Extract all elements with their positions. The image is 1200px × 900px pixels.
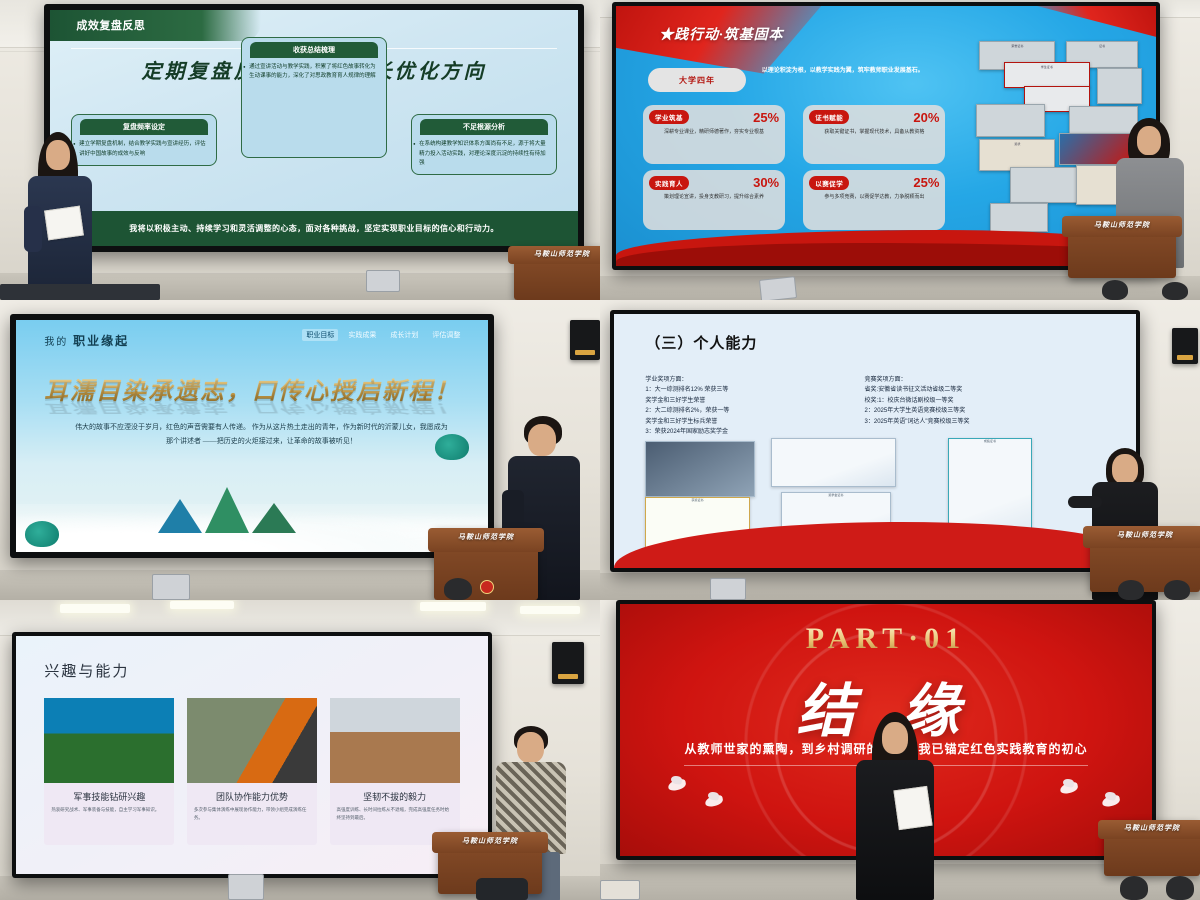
interest-card-heading: 坚韧不拔的毅力 (330, 783, 460, 806)
slide-interests-abilities: 兴趣与能力 军事技能钻研兴趣 热衷研究战术、军事装备与技能，自主学习军事知识。 … (16, 636, 488, 874)
panel-middle-left: 我的 职业缘起 职业目标 实践成果 成长计划 评估调整 耳濡目染承遗志，口传心授… (0, 300, 600, 600)
panel-top-left: 成效复盘反思 定期复盘反思，我在成长优化方向 复盘频率设定 建立学期复盘机制，结… (0, 0, 600, 300)
review-card-body: 在系统构建教学知识体系方面尚有不足，源于将大量精力投入活动实践，对理论深度沉淀的… (412, 140, 556, 168)
microphone (444, 578, 472, 600)
review-card-body: 通过宣讲活动与教学实践，积累了将红色故事转化为生动课事的能力，深化了对思政教育育… (242, 63, 386, 82)
slide-title: （三）个人能力 (645, 332, 757, 353)
tab-career-goal[interactable]: 职业目标 (302, 329, 338, 341)
podium-institution-name: 马鞍山师范学院 (514, 249, 600, 259)
interest-card-heading: 军事技能钻研兴趣 (44, 783, 174, 806)
laptop (366, 270, 400, 292)
certificate-thumb (990, 203, 1049, 231)
metric-tag: 实践育人 (649, 176, 689, 190)
podium-institution-name: 马鞍山师范学院 (1090, 530, 1200, 540)
metric-tag: 以赛促学 (809, 176, 849, 190)
metric-tag: 学业筑基 (649, 110, 689, 124)
tab-evaluation-adjust[interactable]: 评估调整 (428, 329, 464, 341)
certificate-thumb (1097, 68, 1142, 105)
interest-card-desc: 热衷研究战术、军事装备与技能，自主学习军事知识。 (44, 806, 174, 814)
metric-card: 证书赋能 20% 获取关键证书，掌握现代技术，具备从教资格 (803, 105, 945, 164)
microphone (1118, 580, 1144, 600)
podium: 马鞍山师范学院 (1104, 820, 1200, 876)
slide-card-row: 复盘频率设定 建立学期复盘机制，结合教学实践与宣讲经历，评估讲好中国故事的成效与… (71, 95, 557, 204)
metric-percent: 30% (753, 175, 779, 190)
slide-pill-label: 大学四年 (648, 68, 745, 91)
award-image (771, 438, 896, 486)
ceiling-light (170, 601, 234, 609)
tab-practice-results[interactable]: 实践成果 (344, 329, 380, 341)
display-screen-4: （三）个人能力 学业奖项方面： 1：大一综测排名12% 荣获三等 奖学金和三好学… (610, 310, 1140, 572)
metric-tag: 证书赋能 (809, 110, 849, 124)
tab-growth-plan[interactable]: 成长计划 (386, 329, 422, 341)
microphone (1120, 876, 1148, 900)
metric-desc: 获取关键证书，掌握现代技术，具备从教资格 (809, 128, 939, 137)
metric-percent: 25% (913, 175, 939, 190)
panel-bottom-right: PART·01 结 缘 从教师世家的熏陶，到乡村调研的实践，我已锚定红色实践教育… (600, 600, 1200, 900)
slide-headline-reflection: 耳濡目染承遗志，口传心授启新程！ (16, 400, 488, 419)
wall-speaker (1172, 328, 1198, 364)
podium-institution-name: 马鞍山师范学院 (434, 532, 538, 542)
slide-title: 兴趣与能力 (44, 660, 129, 681)
display-screen-5: 兴趣与能力 军事技能钻研兴趣 热衷研究战术、军事装备与技能，自主学习军事知识。 … (12, 632, 492, 878)
slide-nav-tabs: 职业目标 实践成果 成长计划 评估调整 (302, 329, 464, 341)
chair (476, 878, 528, 900)
slide-career-origin: 我的 职业缘起 职业目标 实践成果 成长计划 评估调整 耳濡目染承遗志，口传心授… (16, 320, 488, 552)
laptop (759, 276, 797, 300)
metric-card: 以赛促学 25% 参与多项竞赛，以赛促学达教，力争脱颖而出 (803, 170, 945, 229)
metric-desc: 参与多项竞赛，以赛促学达教，力争脱颖而出 (809, 193, 939, 202)
interest-card: 团队协作能力优势 多次参与集体演练中展现协作能力，带领小组完成演练任务。 (187, 698, 317, 846)
slide-footer-banner: 我将以积极主动、持续学习和灵活调整的心态，面对各种挑战，坚定实现职业目标的信心和… (50, 211, 578, 246)
metric-grid: 学业筑基 25% 深耕专业课业，精研师德著作，夯实专业根基 证书赋能 20% 获… (643, 105, 945, 230)
competition-awards-column: 竞赛奖项方面： 省奖:安徽省读书征文活动省级二等奖 校奖:1：校庆台微话剧校级一… (865, 375, 1105, 428)
presenter-figure (852, 712, 938, 900)
slide-title: ★践行动·筑基固本 (659, 24, 784, 44)
metric-desc: 深耕专业课业，精研师德著作，夯实专业根基 (649, 128, 779, 137)
certificate-thumb: 学生证书 (1004, 62, 1090, 88)
slide-review-reflection: 成效复盘反思 定期复盘反思，我在成长优化方向 复盘频率设定 建立学期复盘机制，结… (50, 10, 578, 246)
panel-bottom-left: 兴趣与能力 军事技能钻研兴趣 热衷研究战术、军事装备与技能，自主学习军事知识。 … (0, 600, 600, 900)
interest-card: 军事技能钻研兴趣 热衷研究战术、军事装备与技能，自主学习军事知识。 (44, 698, 174, 846)
metric-percent: 20% (913, 110, 939, 125)
front-desk (0, 284, 160, 300)
podium: 马鞍山师范学院 (1068, 216, 1176, 278)
slide-eyebrow-main: 职业缘起 (73, 334, 129, 348)
podium-institution-name: 马鞍山师范学院 (1104, 823, 1200, 833)
review-card: 收获总结梳理 通过宣讲活动与教学实践，积累了将红色故事转化为生动课事的能力，深化… (241, 37, 387, 159)
presenter-figure (22, 132, 102, 300)
slide-lead-text: 以理论积淀为根，以教学实践为翼，筑牢教师职业发展基石。 (762, 66, 935, 77)
laptop (152, 574, 190, 600)
script-paper (44, 206, 84, 241)
school-emblem-icon (480, 580, 494, 594)
review-card: 不足根源分析 在系统构建教学知识体系方面尚有不足，源于将大量精力投入活动实践，对… (411, 114, 557, 175)
interest-photo (330, 698, 460, 784)
slide-eyebrow: 我的 职业缘起 (44, 332, 129, 349)
wall-speaker (570, 320, 600, 360)
ceiling-light (60, 604, 130, 613)
microphone (1102, 280, 1128, 300)
interest-card-desc: 高强度训练、长时间拉练从不退缩，完成高强度任务时始终坚持到最后。 (330, 806, 460, 821)
microphone (1166, 876, 1194, 900)
podium-institution-name: 马鞍山师范学院 (438, 836, 542, 846)
pine-tree-icon (435, 434, 469, 460)
review-card-heading: 不足根源分析 (420, 119, 548, 135)
laptop (228, 874, 264, 900)
microphone (1164, 580, 1190, 600)
panel-top-right: ★践行动·筑基固本 大学四年 以理论积淀为根，以教学实践为翼，筑牢教师职业发展基… (600, 0, 1200, 300)
display-screen-3: 我的 职业缘起 职业目标 实践成果 成长计划 评估调整 耳濡目染承遗志，口传心授… (10, 314, 494, 558)
microphone (1162, 282, 1188, 300)
photo-collage-grid: 成效复盘反思 定期复盘反思，我在成长优化方向 复盘频率设定 建立学期复盘机制，结… (0, 0, 1200, 900)
laptop (600, 880, 640, 900)
slide-personal-ability: （三）个人能力 学业奖项方面： 1：大一综测排名12% 荣获三等 奖学金和三好学… (614, 314, 1136, 568)
certificate-thumb (976, 104, 1045, 136)
slide-part-label: PART·01 (620, 622, 1152, 656)
interest-card-desc: 多次参与集体演练中展现协作能力，带领小组完成演练任务。 (187, 806, 317, 821)
interest-card-heading: 团队协作能力优势 (187, 783, 317, 806)
review-card-heading: 收获总结梳理 (250, 42, 378, 58)
metric-percent: 25% (753, 110, 779, 125)
podium: 马鞍山师范学院 (514, 246, 600, 300)
slide-ribbon-label: 成效复盘反思 (50, 10, 261, 41)
metric-card: 实践育人 30% 策划理论宣讲，投身支教研习，提升综合素养 (643, 170, 785, 229)
interest-photo (44, 698, 174, 784)
panel-middle-right: （三）个人能力 学业奖项方面： 1：大一综测排名12% 荣获三等 奖学金和三好学… (600, 300, 1200, 600)
ceiling-light (420, 602, 486, 611)
interest-photo (187, 698, 317, 784)
metric-card: 学业筑基 25% 深耕专业课业，精研师德著作，夯实专业根基 (643, 105, 785, 164)
academic-awards-column: 学业奖项方面： 1：大一综测排名12% 荣获三等 奖学金和三好学生荣誉 2：大二… (645, 375, 833, 438)
wall-speaker (552, 642, 584, 684)
script-paper (893, 786, 932, 830)
pine-tree-icon (25, 521, 59, 547)
ceiling-light (520, 606, 580, 614)
laptop (710, 578, 746, 600)
slide-eyebrow-prefix: 我的 (44, 337, 68, 348)
metric-desc: 策划理论宣讲，投身支教研习，提升综合素养 (649, 193, 779, 202)
podium-institution-name: 马鞍山师范学院 (1068, 220, 1176, 230)
interest-card: 坚韧不拔的毅力 高强度训练、长时间拉练从不退缩，完成高强度任务时始终坚持到最后。 (330, 698, 460, 846)
interest-card-row: 军事技能钻研兴趣 热衷研究战术、军事装备与技能，自主学习军事知识。 团队协作能力… (44, 698, 459, 846)
award-image (645, 441, 755, 497)
mountain-illustration (16, 431, 488, 552)
display-screen-1: 成效复盘反思 定期复盘反思，我在成长优化方向 复盘频率设定 建立学期复盘机制，结… (44, 4, 584, 252)
